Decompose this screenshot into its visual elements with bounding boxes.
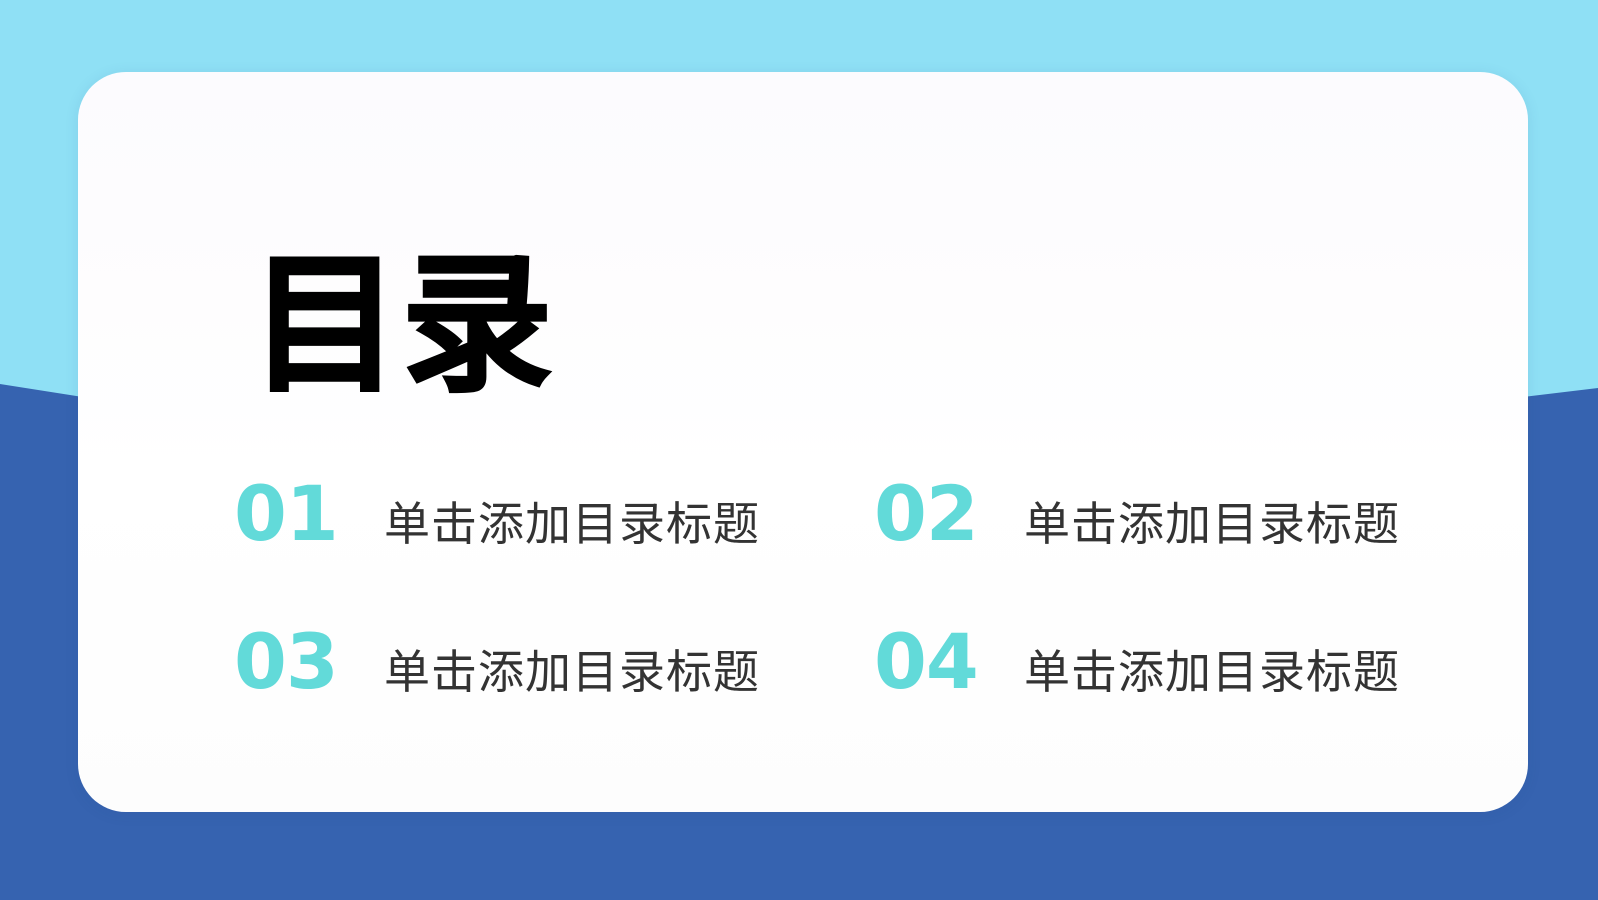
toc-number-01: 01 [234,476,384,552]
toc-number-02: 02 [874,476,1024,552]
toc-number-03: 03 [234,624,384,700]
toc-label-01: 单击添加目录标题 [384,501,760,547]
page-title: 目录 [250,251,554,401]
toc-item-02[interactable]: 02 单击添加目录标题 [874,476,1444,552]
toc-label-04: 单击添加目录标题 [1024,649,1400,695]
toc-item-04[interactable]: 04 单击添加目录标题 [874,624,1444,700]
toc-item-01[interactable]: 01 单击添加目录标题 [234,476,874,552]
toc-label-02: 单击添加目录标题 [1024,501,1400,547]
toc-number-04: 04 [874,624,1024,700]
slide-canvas: 目录 01 单击添加目录标题 02 单击添加目录标题 03 单击添加目录标题 0… [0,0,1598,900]
content-card: 目录 01 单击添加目录标题 02 单击添加目录标题 03 单击添加目录标题 0… [78,72,1528,812]
toc-label-03: 单击添加目录标题 [384,649,760,695]
table-of-contents-list: 01 单击添加目录标题 02 单击添加目录标题 03 单击添加目录标题 04 单… [234,440,1444,736]
toc-item-03[interactable]: 03 单击添加目录标题 [234,624,874,700]
